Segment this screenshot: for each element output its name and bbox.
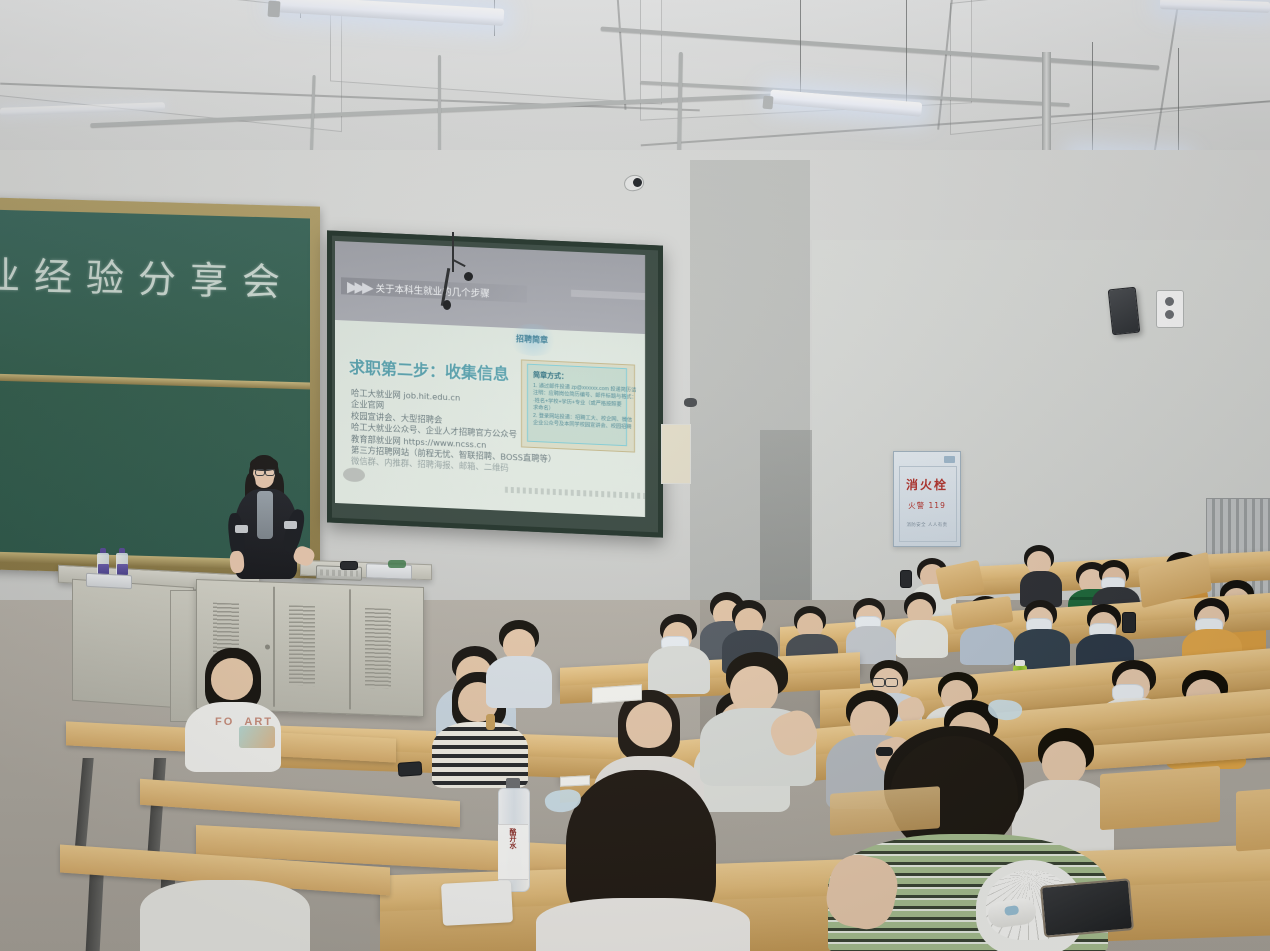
wall-speaker-right: [1156, 290, 1184, 328]
podium-remote: [340, 561, 358, 570]
slide-watermark: [343, 467, 365, 482]
projected-slide: ▶▶▶ 关于本科生就业的几个步骤 招聘简章 求职第二步：收集信息 哈工大就业网 …: [335, 241, 645, 517]
student-glasses: [872, 678, 885, 687]
student: [1014, 600, 1070, 666]
light-hang-wire: [906, 0, 907, 112]
light-end-cap: [762, 96, 773, 110]
speaker-cone-icon: [1165, 310, 1174, 319]
presenter: [228, 455, 308, 590]
student-torso: [536, 898, 750, 951]
wall-notice: [661, 424, 691, 484]
presenter-glasses: [255, 469, 265, 476]
student-head: [626, 702, 672, 748]
light-hang-wire: [800, 0, 801, 96]
cabinet-vent: [289, 605, 315, 686]
light-hang-wire: [1178, 48, 1179, 160]
podium-tray: [86, 573, 132, 589]
paper-on-desk: [560, 775, 590, 787]
student: [486, 620, 552, 706]
bottle-label-text: 酪开水: [507, 828, 517, 872]
slide-banner-text: 关于本科生就业的几个步骤: [376, 280, 490, 299]
student-foreground: [140, 880, 310, 951]
seat-back: [1100, 766, 1220, 830]
student: [1020, 545, 1062, 605]
fire-hydrant-sign: 消火栓 火警 119 消防安全 人人有责: [893, 451, 961, 547]
wall-sensor: [684, 398, 697, 407]
phone: [900, 570, 912, 588]
student-torso: [896, 620, 948, 658]
student-head: [730, 666, 778, 714]
student: [896, 592, 948, 654]
cabinet-vent: [365, 608, 391, 689]
presenter-scarf: [257, 491, 273, 539]
microphone-cable: [452, 232, 454, 272]
bottle-label: [117, 564, 128, 575]
cabinet-divider: [349, 589, 351, 709]
microphone-head: [464, 272, 473, 281]
classroom-photo: 消火栓 火警 119 消防安全 人人有责 业经验分享会 ▶▶▶ 关于本科生就业的…: [0, 0, 1270, 951]
phone-on-desk: [398, 761, 423, 777]
presenter-cuff: [235, 525, 248, 533]
hair-clip: [486, 714, 495, 730]
slide-logo-text: 招聘简章: [516, 333, 548, 345]
tissue-pack: [441, 880, 513, 926]
student-torso: [140, 880, 310, 951]
hydrant-sub-text: 火警 119: [894, 500, 960, 511]
chalkboard-text: 业经验分享会: [0, 244, 294, 307]
hydrant-footer-text: 消防安全 人人有责: [894, 522, 960, 528]
light-end-cap: [268, 1, 281, 18]
presenter-glasses: [265, 469, 275, 476]
green-object: [388, 560, 406, 568]
object-button-icon: [1004, 905, 1019, 916]
phone: [1122, 612, 1136, 633]
student-torso: [486, 656, 552, 708]
slide-infobox: 简章方式： 1. 通过邮件投递 zp@xxxxxx.com 投递简历请 注明：应…: [527, 364, 627, 447]
camera-lens-icon: [633, 178, 642, 187]
microphone-head: [443, 300, 451, 310]
wall-speaker-left: [1108, 287, 1141, 336]
seat-back: [830, 786, 940, 836]
student-foreground: [108, 692, 248, 872]
speaker-cone-icon: [1165, 297, 1174, 306]
chevron-right-icon: ▶▶▶: [347, 277, 370, 296]
sign-tag: [944, 456, 955, 463]
student: [846, 598, 896, 660]
student-torso: [960, 625, 1014, 665]
student: [700, 652, 816, 780]
tablet-device[interactable]: [1040, 878, 1134, 938]
presenter-hand-left: [229, 551, 245, 574]
hydrant-main-text: 消火栓: [894, 476, 960, 493]
infobox-heading: 简章方式：: [533, 370, 621, 384]
presenter-cuff: [284, 521, 297, 529]
bottle-cap: [1015, 660, 1025, 666]
light-hang-wire: [1092, 42, 1093, 160]
seat-back: [1236, 789, 1270, 852]
keyboard-keys: [320, 569, 358, 576]
student-glasses: [885, 678, 898, 687]
water-bottle-foreground: 酪开水: [498, 778, 528, 890]
